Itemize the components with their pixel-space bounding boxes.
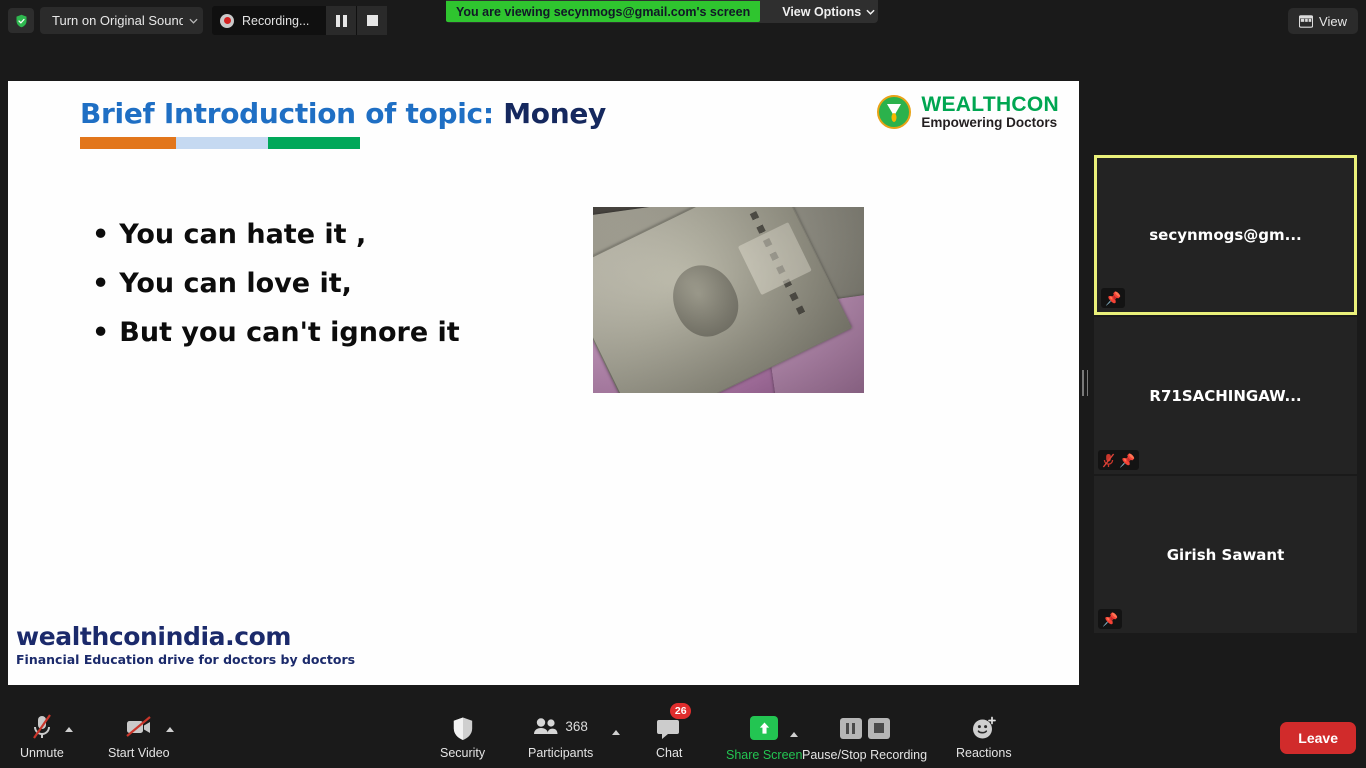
slide-footer: wealthconindia.com Financial Education d… [16, 622, 355, 667]
unmute-button[interactable]: Unmute [20, 711, 64, 760]
logo-brand: WEALTHCON [921, 94, 1059, 116]
pause-icon[interactable] [840, 718, 862, 739]
panel-resize-handle-icon[interactable] [1080, 368, 1090, 398]
participants-count: 368 [565, 719, 588, 734]
top-bar: Turn on Original Sound Recording... You … [0, 0, 1366, 41]
view-layout-button[interactable]: View [1288, 8, 1358, 34]
share-up-arrow-icon [750, 716, 778, 740]
start-video-label: Start Video [108, 746, 170, 760]
chevron-down-icon [189, 18, 198, 24]
bullet-text: You can love it, [119, 268, 352, 299]
microphone-off-icon [1102, 453, 1115, 468]
rupee-banknotes-image [593, 207, 864, 393]
security-label: Security [440, 746, 485, 760]
chevron-up-icon[interactable] [65, 727, 73, 732]
share-screen-label: Share Screen [726, 748, 802, 762]
pause-stop-recording-label: Pause/Stop Recording [802, 748, 927, 762]
bullet-text: You can hate it , [119, 219, 366, 250]
unmute-label: Unmute [20, 746, 64, 760]
logo-tagline: Empowering Doctors [921, 116, 1059, 130]
slide-accent-bar [80, 137, 360, 149]
shared-screen-slide[interactable]: Brief Introduction of topic: Money WEALT… [8, 81, 1079, 685]
bullet-text: But you can't ignore it [119, 317, 459, 348]
share-screen-button[interactable]: Share Screen [726, 713, 802, 762]
view-options-label: View Options [782, 5, 861, 19]
participant-name: secynmogs@gm... [1097, 226, 1354, 244]
list-item: •But you can't ignore it [92, 317, 460, 348]
security-button[interactable]: Security [440, 711, 485, 760]
participant-video-panel: secynmogs@gm... 📌 R71SACHINGAW... 📌 [1094, 155, 1357, 635]
shield-check-icon [14, 13, 29, 29]
original-sound-button[interactable]: Turn on Original Sound [40, 7, 198, 34]
list-item: •You can love it, [92, 268, 460, 299]
participant-badges: 📌 [1101, 288, 1125, 308]
start-video-button[interactable]: Start Video [108, 711, 170, 760]
slide-title: Brief Introduction of topic: Money [80, 97, 606, 130]
stop-icon [367, 15, 378, 26]
bullet-marker: • [92, 268, 109, 299]
smiley-plus-icon [971, 716, 997, 741]
chat-button[interactable]: 26 Chat [656, 711, 682, 760]
participant-name: Girish Sawant [1094, 546, 1357, 564]
security-shield-badge[interactable] [8, 8, 34, 33]
recording-pause-button[interactable] [326, 6, 356, 35]
participant-tile[interactable]: Girish Sawant 📌 [1094, 476, 1357, 633]
slide-title-part1: Brief Introduction of topic: [80, 97, 494, 130]
chevron-up-icon[interactable] [790, 732, 798, 737]
participant-tile[interactable]: R71SACHINGAW... 📌 [1094, 317, 1357, 474]
chevron-up-icon[interactable] [612, 730, 620, 735]
accent-bar-orange [80, 137, 176, 149]
recording-stop-button[interactable] [357, 6, 387, 35]
participants-label: Participants [528, 746, 593, 760]
pause-stop-recording-button[interactable]: Pause/Stop Recording [802, 713, 927, 762]
pin-icon[interactable]: 📌 [1119, 454, 1135, 467]
participant-badges: 📌 [1098, 450, 1139, 470]
meeting-toolbar: Unmute Start Video [0, 696, 1366, 768]
footer-site: wealthconindia.com [16, 622, 355, 651]
microphone-off-icon [31, 713, 53, 741]
participant-name: R71SACHINGAW... [1094, 387, 1357, 405]
participant-tile-active[interactable]: secynmogs@gm... 📌 [1094, 155, 1357, 315]
original-sound-dropdown[interactable] [183, 7, 203, 34]
chevron-up-icon[interactable] [166, 727, 174, 732]
leave-label: Leave [1298, 730, 1338, 746]
layout-grid-icon [1299, 15, 1313, 28]
list-item: •You can hate it , [92, 219, 460, 250]
chat-bubble-icon [656, 717, 682, 741]
chevron-down-icon [866, 9, 875, 15]
reactions-label: Reactions [956, 746, 1012, 760]
chat-label: Chat [656, 746, 682, 760]
participants-button[interactable]: 368 Participants [528, 711, 593, 760]
bullet-marker: • [92, 317, 109, 348]
slide-bullet-list: •You can hate it , •You can love it, •Bu… [92, 219, 460, 366]
pin-icon[interactable]: 📌 [1105, 292, 1121, 305]
share-banner-text: You are viewing secynmogs@gmail.com's sc… [446, 1, 760, 22]
recording-indicator: Recording... [212, 6, 387, 35]
chat-unread-badge: 26 [670, 703, 691, 719]
accent-bar-green [268, 137, 360, 149]
view-options-button[interactable]: View Options [760, 5, 875, 19]
shield-icon [452, 716, 474, 741]
leave-button[interactable]: Leave [1280, 722, 1356, 754]
pin-icon[interactable]: 📌 [1102, 613, 1118, 626]
bullet-marker: • [92, 219, 109, 250]
recording-status-label: Recording... [242, 14, 326, 28]
people-icon [533, 717, 559, 735]
pause-icon [336, 15, 347, 27]
wealthcon-logo: WEALTHCON Empowering Doctors [875, 93, 1059, 131]
reactions-button[interactable]: Reactions [956, 711, 1012, 760]
footer-tagline: Financial Education drive for doctors by… [16, 652, 355, 667]
video-off-icon [124, 713, 154, 741]
participant-badges: 📌 [1098, 609, 1122, 629]
laurel-wreath-logo-icon [875, 93, 913, 131]
accent-bar-lightblue [176, 137, 268, 149]
original-sound-label: Turn on Original Sound [52, 13, 186, 28]
screen-share-banner: You are viewing secynmogs@gmail.com's sc… [446, 0, 878, 23]
record-dot-icon [212, 14, 242, 28]
stop-icon[interactable] [868, 718, 890, 739]
zoom-meeting-window: Turn on Original Sound Recording... You … [0, 0, 1366, 768]
slide-title-part2: Money [503, 97, 606, 130]
view-label: View [1319, 14, 1347, 29]
